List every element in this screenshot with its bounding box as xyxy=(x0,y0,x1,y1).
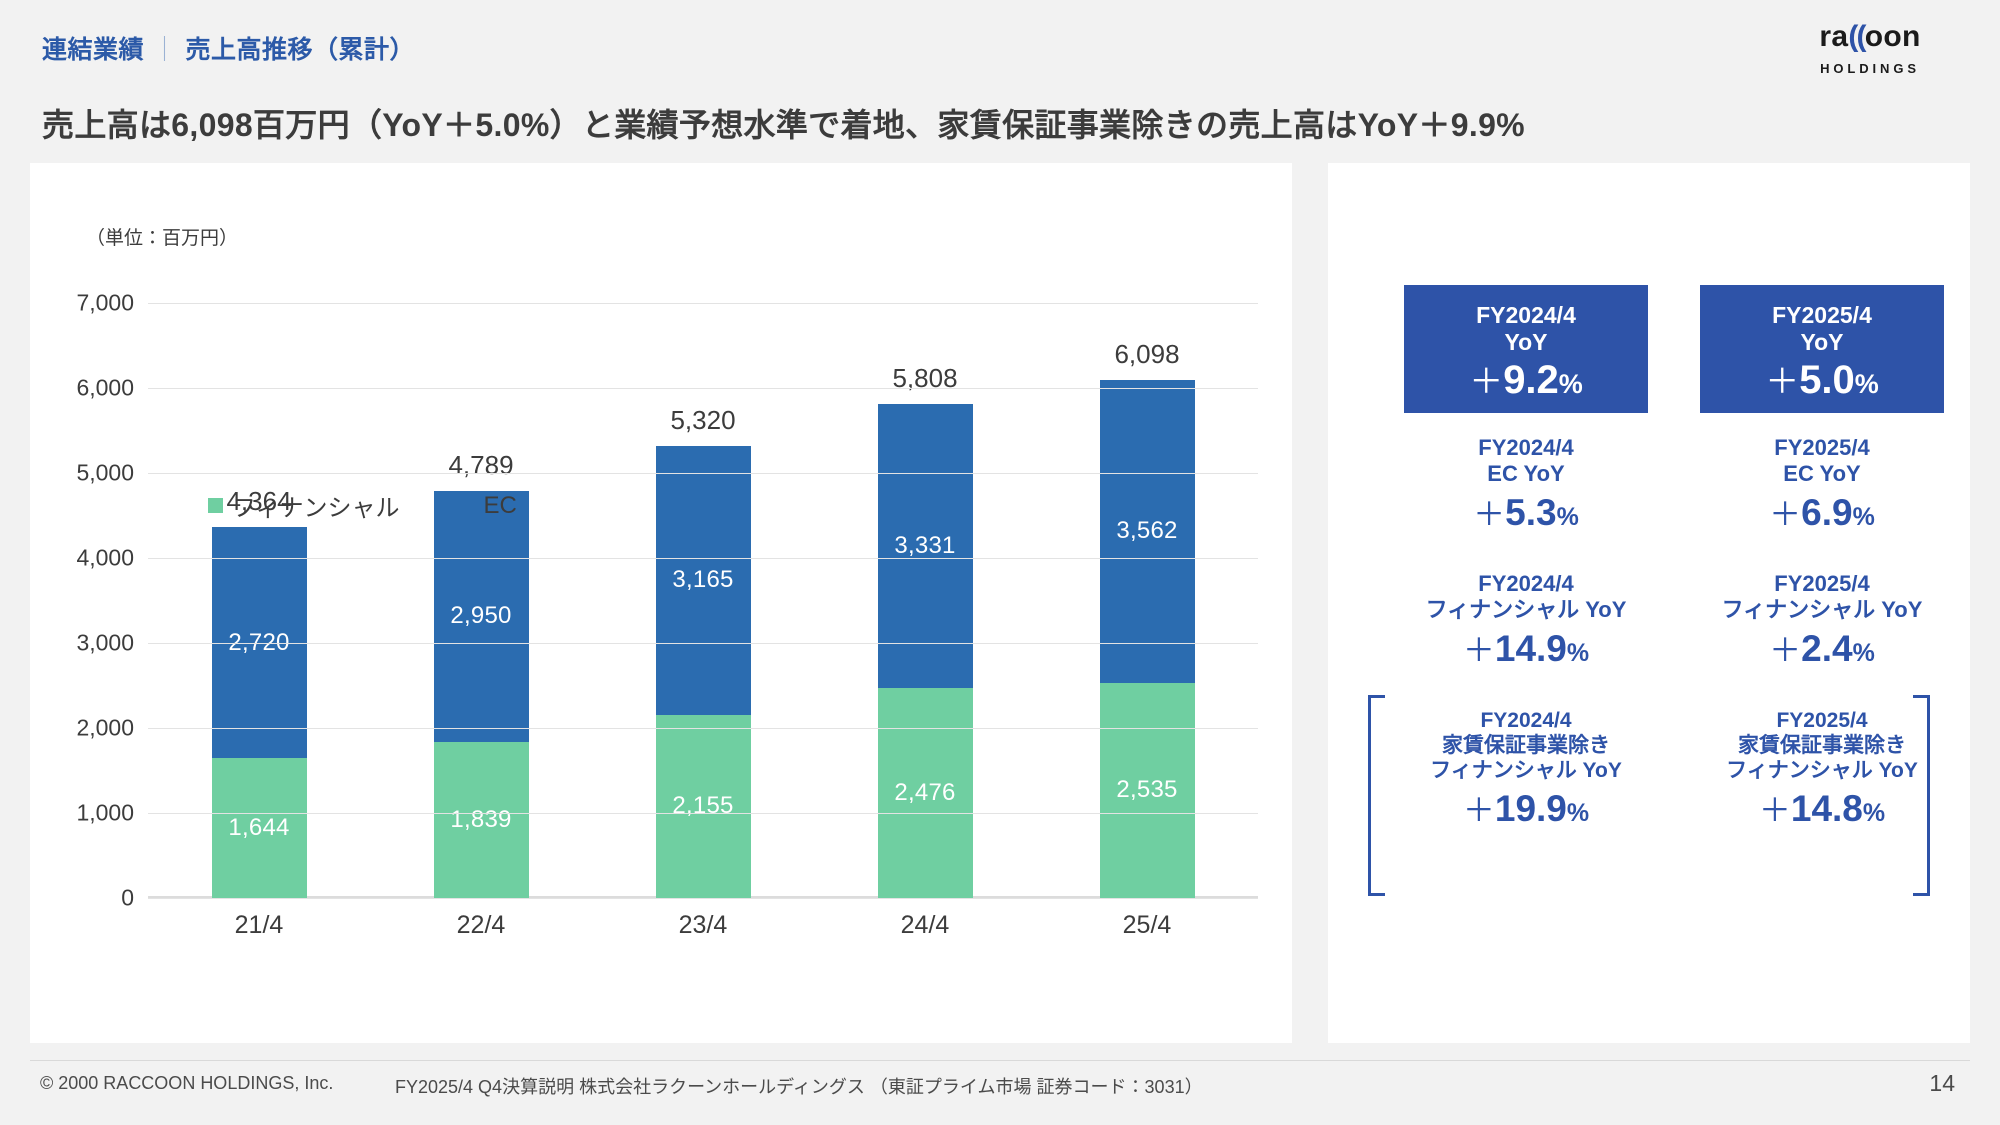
footer-copyright: © 2000 RACCOON HOLDINGS, Inc. xyxy=(40,1073,333,1094)
kpi-highlight-title: FY2025/4 YoY xyxy=(1772,302,1872,355)
kpi-value-number: 5.3 xyxy=(1505,492,1556,533)
page-number: 14 xyxy=(1929,1070,1955,1097)
kpi-ec-title-line2: EC YoY xyxy=(1487,461,1564,486)
logo-brackets-icon: (( xyxy=(1848,20,1864,53)
logo-text-a: ra xyxy=(1819,20,1848,53)
kpi-excl-value: ＋14.8% xyxy=(1700,790,1944,827)
kpi-value-number: 14.8 xyxy=(1791,788,1863,829)
kpi-financial-title-line1: FY2025/4 xyxy=(1774,571,1869,596)
chart-gridline xyxy=(148,473,1258,474)
chart-unit-note: （単位：百万円） xyxy=(86,223,238,250)
chart-segment-label: 3,562 xyxy=(1116,517,1177,545)
kpi-plus-sign: ＋ xyxy=(1463,632,1495,668)
kpi-ec-value: ＋5.3% xyxy=(1404,494,1648,531)
kpi-financial-title: FY2025/4 フィナンシャル YoY xyxy=(1700,571,1944,624)
kpi-ec-yoy: FY2024/4 EC YoY ＋5.3% xyxy=(1404,435,1648,531)
kpi-excl-title: FY2024/4 家賃保証事業除き フィナンシャル YoY xyxy=(1404,708,1648,784)
chart-x-tick-label: 23/4 xyxy=(656,911,751,951)
slide-root: 連結業績｜売上高推移（累計） 売上高は6,098百万円（YoY＋5.0%）と業績… xyxy=(0,0,2000,1125)
bracket-left-icon xyxy=(1368,695,1385,896)
chart-y-tick-label: 1,000 xyxy=(76,800,134,827)
logo-subtitle: HOLDINGS xyxy=(1780,61,1960,76)
breadcrumb-title: 売上高推移（累計） xyxy=(186,36,416,64)
chart-bar-segment-financial[interactable]: 1,644 xyxy=(212,758,307,898)
chart-segment-label: 2,476 xyxy=(894,779,955,807)
kpi-financial-title: FY2024/4 フィナンシャル YoY xyxy=(1404,571,1648,624)
chart-gridline xyxy=(148,388,1258,389)
chart-legend-item[interactable]: フィナンシャル xyxy=(208,488,400,523)
chart-bar-segment-financial[interactable]: 1,839 xyxy=(434,742,529,898)
kpi-value-number: 19.9 xyxy=(1495,788,1567,829)
chart-x-tick-label: 25/4 xyxy=(1100,911,1195,951)
chart-legend: フィナンシャルEC xyxy=(208,488,517,523)
chart-x-tick-label: 21/4 xyxy=(212,911,307,951)
kpi-value-number: 5.0 xyxy=(1799,358,1855,402)
legend-swatch-icon xyxy=(460,498,475,513)
chart-segment-label: 2,950 xyxy=(450,602,511,630)
chart-y-tick-label: 5,000 xyxy=(76,460,134,487)
kpi-value-number: 9.2 xyxy=(1503,358,1559,402)
chart-bar-segment-ec[interactable]: 3,562 xyxy=(1100,380,1195,683)
chart-y-tick-label: 2,000 xyxy=(76,715,134,742)
kpi-highlight-title-line2: YoY xyxy=(1800,329,1843,355)
kpi-excl-title-line3: フィナンシャル YoY xyxy=(1430,759,1622,782)
chart-segment-label: 2,535 xyxy=(1116,776,1177,804)
chart-bar-total-label: 6,098 xyxy=(1114,339,1179,370)
kpi-percent-sign: % xyxy=(1853,639,1875,667)
kpi-highlight-value: ＋9.2% xyxy=(1469,360,1583,400)
chart-plot-area: 4,3642,7201,6444,7892,9501,8395,3203,165… xyxy=(148,303,1258,898)
kpi-ec-title-line1: FY2025/4 xyxy=(1774,435,1869,460)
chart-x-axis-labels: 21/422/423/424/425/4 xyxy=(148,911,1258,951)
chart-bar-column[interactable]: 5,8083,3312,476 xyxy=(878,303,973,898)
chart-gridline xyxy=(148,558,1258,559)
chart-segment-label: 3,165 xyxy=(672,566,733,594)
chart-x-tick-label: 22/4 xyxy=(434,911,529,951)
kpi-financial-value: ＋14.9% xyxy=(1404,630,1648,667)
kpi-excl-title: FY2025/4 家賃保証事業除き フィナンシャル YoY xyxy=(1700,708,1944,784)
chart-legend-item[interactable]: EC xyxy=(460,492,517,520)
chart-segment-label: 3,331 xyxy=(894,532,955,560)
kpi-plus-sign: ＋ xyxy=(1769,496,1801,532)
kpi-highlight-title-line1: FY2025/4 xyxy=(1772,302,1872,328)
kpi-ec-value: ＋6.9% xyxy=(1700,494,1944,531)
chart-gridline xyxy=(148,813,1258,814)
kpi-excl-title-line2: 家賃保証事業除き xyxy=(1738,734,1906,757)
breadcrumb-section: 連結業績 xyxy=(42,36,144,64)
chart-bars-container: 4,3642,7201,6444,7892,9501,8395,3203,165… xyxy=(148,303,1258,898)
kpi-highlight-box: FY2025/4 YoY ＋5.0% xyxy=(1700,285,1944,413)
kpi-percent-sign: % xyxy=(1567,639,1589,667)
kpi-value-number: 2.4 xyxy=(1801,628,1852,669)
kpi-percent-sign: % xyxy=(1557,503,1579,531)
kpi-financial-yoy: FY2024/4 フィナンシャル YoY ＋14.9% xyxy=(1404,571,1648,667)
chart-segment-label: 2,155 xyxy=(672,792,733,820)
kpi-ec-title-line1: FY2024/4 xyxy=(1478,435,1573,460)
chart-segment-label: 1,644 xyxy=(228,814,289,842)
kpi-percent-sign: % xyxy=(1855,369,1879,399)
kpi-highlight-title-line2: YoY xyxy=(1504,329,1547,355)
chart-bar-segment-financial[interactable]: 2,535 xyxy=(1100,683,1195,898)
chart-bar-segment-ec[interactable]: 2,950 xyxy=(434,491,529,742)
chart-gridline xyxy=(148,303,1258,304)
chart-y-tick-label: 7,000 xyxy=(76,290,134,317)
logo-wordmark: ra((oon xyxy=(1780,22,1960,52)
kpi-panel: FY2024/4 YoY ＋9.2% FY2024/4 EC YoY ＋5.3%… xyxy=(1328,163,1970,1043)
logo-text-b: oon xyxy=(1865,20,1921,53)
footer-divider xyxy=(30,1060,1970,1061)
kpi-percent-sign: % xyxy=(1559,369,1583,399)
kpi-excl-rent-guarantee-yoy: FY2025/4 家賃保証事業除き フィナンシャル YoY ＋14.8% xyxy=(1700,708,1944,827)
chart-bar-segment-ec[interactable]: 3,331 xyxy=(878,404,973,687)
page-headline: 売上高は6,098百万円（YoY＋5.0%）と業績予想水準で着地、家賃保証事業除… xyxy=(42,100,1525,146)
chart-segment-label: 1,839 xyxy=(450,806,511,834)
footer-document-title: FY2025/4 Q4決算説明 株式会社ラクーンホールディングス （東証プライム… xyxy=(395,1073,1203,1099)
kpi-plus-sign: ＋ xyxy=(1473,496,1505,532)
company-logo: ra((oon HOLDINGS xyxy=(1780,22,1960,76)
chart-bar-total-label: 5,320 xyxy=(670,405,735,436)
kpi-financial-title-line2: フィナンシャル YoY xyxy=(1426,597,1627,622)
chart-bar-column[interactable]: 6,0983,5622,535 xyxy=(1100,303,1195,898)
kpi-ec-yoy: FY2025/4 EC YoY ＋6.9% xyxy=(1700,435,1944,531)
kpi-financial-yoy: FY2025/4 フィナンシャル YoY ＋2.4% xyxy=(1700,571,1944,667)
kpi-plus-sign: ＋ xyxy=(1469,363,1503,401)
kpi-financial-value: ＋2.4% xyxy=(1700,630,1944,667)
kpi-percent-sign: % xyxy=(1863,799,1885,827)
chart-legend-label: フィナンシャル xyxy=(232,488,400,523)
kpi-plus-sign: ＋ xyxy=(1769,632,1801,668)
chart-bar-column[interactable]: 5,3203,1652,155 xyxy=(656,303,751,898)
kpi-plus-sign: ＋ xyxy=(1765,363,1799,401)
kpi-value-number: 14.9 xyxy=(1495,628,1567,669)
chart-bar-total-label: 4,789 xyxy=(448,450,513,481)
kpi-financial-title-line1: FY2024/4 xyxy=(1478,571,1573,596)
kpi-excl-title-line2: 家賃保証事業除き xyxy=(1442,734,1610,757)
chart-x-tick-label: 24/4 xyxy=(878,911,973,951)
chart-legend-label: EC xyxy=(484,492,517,520)
chart-bar-column[interactable]: 4,7892,9501,839 xyxy=(434,303,529,898)
chart-gridline xyxy=(148,728,1258,729)
kpi-highlight-box: FY2024/4 YoY ＋9.2% xyxy=(1404,285,1648,413)
kpi-percent-sign: % xyxy=(1853,503,1875,531)
kpi-grid: FY2024/4 YoY ＋9.2% FY2024/4 EC YoY ＋5.3%… xyxy=(1328,163,1970,1043)
kpi-plus-sign: ＋ xyxy=(1463,792,1495,828)
chart-bar-segment-financial[interactable]: 2,476 xyxy=(878,688,973,898)
chart-panel: （単位：百万円） 4,3642,7201,6444,7892,9501,8395… xyxy=(30,163,1292,1043)
kpi-percent-sign: % xyxy=(1567,799,1589,827)
kpi-value-number: 6.9 xyxy=(1801,492,1852,533)
chart-bar-column[interactable]: 4,3642,7201,644 xyxy=(212,303,307,898)
kpi-excl-rent-guarantee-yoy: FY2024/4 家賃保証事業除き フィナンシャル YoY ＋19.9% xyxy=(1404,708,1648,827)
kpi-excl-title-line1: FY2025/4 xyxy=(1776,709,1867,732)
kpi-ec-title: FY2024/4 EC YoY xyxy=(1404,435,1648,488)
chart-bar-segment-ec[interactable]: 3,165 xyxy=(656,446,751,715)
chart-bar-total-label: 5,808 xyxy=(892,363,957,394)
kpi-ec-title-line2: EC YoY xyxy=(1783,461,1860,486)
chart-gridline xyxy=(148,898,1258,899)
chart-y-tick-label: 6,000 xyxy=(76,375,134,402)
legend-swatch-icon xyxy=(208,498,223,513)
kpi-highlight-title: FY2024/4 YoY xyxy=(1476,302,1576,355)
kpi-excl-title-line3: フィナンシャル YoY xyxy=(1726,759,1918,782)
breadcrumb: 連結業績｜売上高推移（累計） xyxy=(42,30,415,66)
chart-y-tick-label: 4,000 xyxy=(76,545,134,572)
chart-gridline xyxy=(148,643,1258,644)
kpi-ec-title: FY2025/4 EC YoY xyxy=(1700,435,1944,488)
kpi-financial-title-line2: フィナンシャル YoY xyxy=(1722,597,1923,622)
kpi-plus-sign: ＋ xyxy=(1759,792,1791,828)
kpi-highlight-value: ＋5.0% xyxy=(1765,360,1879,400)
chart-y-tick-label: 0 xyxy=(121,885,134,912)
breadcrumb-separator: ｜ xyxy=(152,36,178,64)
kpi-excl-value: ＋19.9% xyxy=(1404,790,1648,827)
chart-bar-segment-financial[interactable]: 2,155 xyxy=(656,715,751,898)
kpi-excl-title-line1: FY2024/4 xyxy=(1480,709,1571,732)
kpi-highlight-title-line1: FY2024/4 xyxy=(1476,302,1576,328)
chart-y-tick-label: 3,000 xyxy=(76,630,134,657)
